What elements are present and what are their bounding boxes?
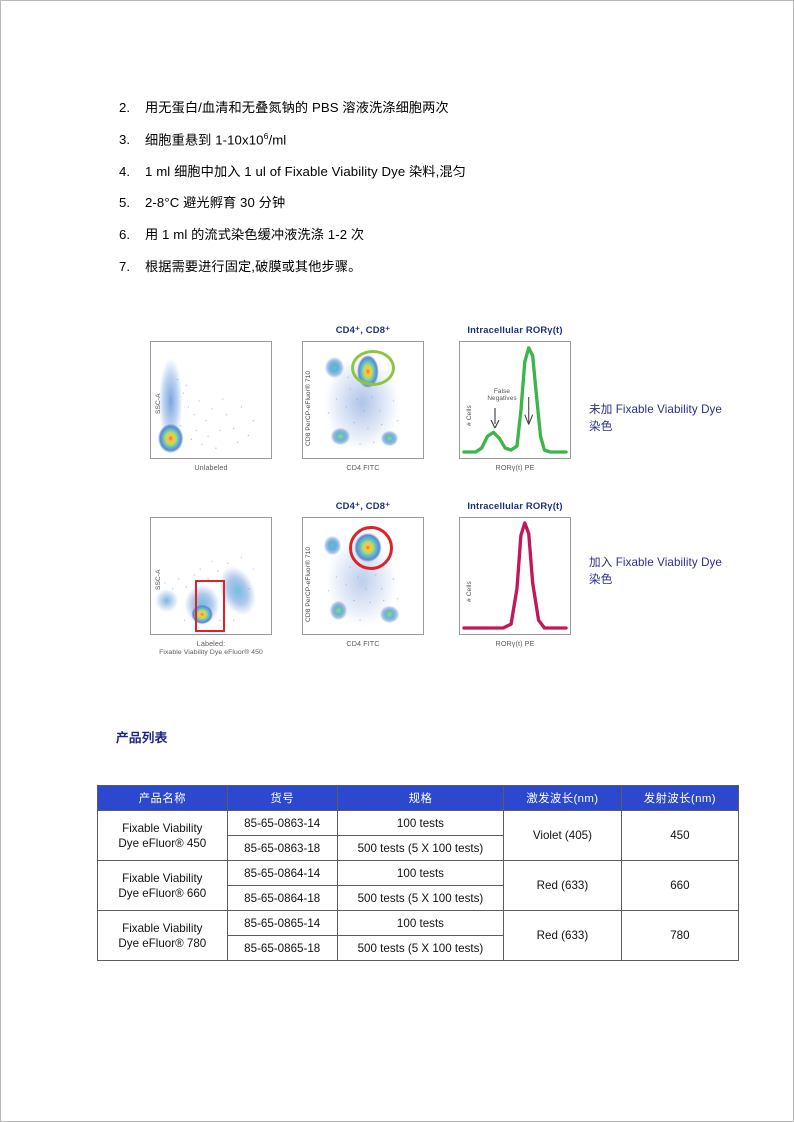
cell-excitation: Red (633) <box>504 861 622 911</box>
scatter-plot: SSC-A <box>150 341 272 459</box>
cell-emission: 780 <box>621 911 738 961</box>
panel-cd4-cd8-stained: CD4⁺, CD8⁺ CD8 PerCP-eFluor® 710 <box>293 499 433 667</box>
list-item: 7. 根据需要进行固定,破膜或其他步骤。 <box>119 258 679 275</box>
cell-excitation: Red (633) <box>504 911 622 961</box>
procedure-steps-list: 2. 用无蛋白/血清和无叠氮钠的 PBS 溶液洗涤细胞两次 3. 细胞重悬到 1… <box>119 99 679 289</box>
x-axis-label-line1: RORγ(t) PE <box>496 639 535 648</box>
column-header-emission: 发射波长(nm) <box>621 786 738 811</box>
histogram-plot: # Cells False Negatives <box>459 341 571 459</box>
gate-circle-red <box>349 526 393 570</box>
panel-title: CD4⁺, CD8⁺ <box>293 499 433 517</box>
scatter-plot: SSC-A <box>150 517 272 635</box>
step-text: 用 1 ml 的流式染色缓冲液洗涤 1-2 次 <box>145 226 679 243</box>
x-axis-label: RORγ(t) PE <box>445 463 585 472</box>
page-title: 产品列表 <box>116 727 168 746</box>
cell-spec: 100 tests <box>337 811 503 836</box>
cell-product-name: Fixable Viability Dye eFluor® 450 <box>98 811 228 861</box>
step-number: 5. <box>119 194 145 211</box>
product-name-line1: Fixable Viability <box>122 872 202 885</box>
cell-catalog-no: 85-65-0863-14 <box>227 811 337 836</box>
annotation-line1: 未加 Fixable Viability Dye <box>589 403 722 416</box>
panel-cd4-cd8-unstained: CD4⁺, CD8⁺ CD8 PerCP-eFluor® 710 <box>293 323 433 491</box>
product-name-line1: Fixable Viability <box>122 922 202 935</box>
cell-catalog-no: 85-65-0863-18 <box>227 836 337 861</box>
histogram-plot: # Cells <box>459 517 571 635</box>
cell-spec: 500 tests (5 X 100 tests) <box>337 886 503 911</box>
table-row: Fixable Viability Dye eFluor® 780 85-65-… <box>98 911 739 936</box>
cell-excitation: Violet (405) <box>504 811 622 861</box>
panel-labeled-ssc: SSC-A <box>141 499 281 667</box>
cell-emission: 450 <box>621 811 738 861</box>
cell-spec: 100 tests <box>337 861 503 886</box>
step-number: 7. <box>119 258 145 275</box>
gate-circle-green <box>351 350 395 386</box>
x-axis-label: Labeled: Fixable Viability Dye eFluor® 4… <box>141 639 281 657</box>
cell-emission: 660 <box>621 861 738 911</box>
step-text: 用无蛋白/血清和无叠氮钠的 PBS 溶液洗涤细胞两次 <box>145 99 679 116</box>
product-name-line2: Dye eFluor® 660 <box>118 887 206 900</box>
panel-title: Intracellular RORγ(t) <box>445 499 585 517</box>
panel-title <box>141 323 281 341</box>
x-axis-label-line1: CD4 FITC <box>346 639 379 648</box>
cell-spec: 500 tests (5 X 100 tests) <box>337 936 503 961</box>
product-table: 产品名称 货号 规格 激发波长(nm) 发射波长(nm) Fixable Via… <box>97 785 739 961</box>
step-number: 4. <box>119 163 145 180</box>
cell-product-name: Fixable Viability Dye eFluor® 780 <box>98 911 228 961</box>
x-axis-label-line1: Labeled: <box>197 639 225 648</box>
panel-rorgt-unstained: Intracellular RORγ(t) # Cells False Nega… <box>445 323 585 491</box>
panel-title: CD4⁺, CD8⁺ <box>293 323 433 341</box>
x-axis-label: CD4 FITC <box>293 639 433 648</box>
x-axis-label: Unlabeled <box>141 463 281 472</box>
x-axis-label-line2: Fixable Viability Dye eFluor® 450 <box>141 648 281 657</box>
table-header-row: 产品名称 货号 规格 激发波长(nm) 发射波长(nm) <box>98 786 739 811</box>
scatter-plot: CD8 PerCP-eFluor® 710 <box>302 341 424 459</box>
annotation-unstained: 未加 Fixable Viability Dye 染色 <box>589 401 779 435</box>
cell-catalog-no: 85-65-0865-18 <box>227 936 337 961</box>
column-header-catalog-no: 货号 <box>227 786 337 811</box>
x-axis-label: CD4 FITC <box>293 463 433 472</box>
false-negatives-annotation: False Negatives <box>480 388 524 403</box>
annotation-stained: 加入 Fixable Viability Dye 染色 <box>589 554 779 588</box>
x-axis-label: RORγ(t) PE <box>445 639 585 648</box>
cell-spec: 100 tests <box>337 911 503 936</box>
document-page: 2. 用无蛋白/血清和无叠氮钠的 PBS 溶液洗涤细胞两次 3. 细胞重悬到 1… <box>0 0 794 1122</box>
annotation-line1: False <box>494 388 510 395</box>
cell-spec: 500 tests (5 X 100 tests) <box>337 836 503 861</box>
step-number: 2. <box>119 99 145 116</box>
column-header-spec: 规格 <box>337 786 503 811</box>
step-text: 细胞重悬到 1-10x106/ml <box>145 131 679 149</box>
panel-title: Intracellular RORγ(t) <box>445 323 585 341</box>
step-text-main: 细胞重悬到 1-10x10 <box>145 132 264 147</box>
list-item: 2. 用无蛋白/血清和无叠氮钠的 PBS 溶液洗涤细胞两次 <box>119 99 679 116</box>
panel-title <box>141 499 281 517</box>
annotation-line1: 加入 Fixable Viability Dye <box>589 556 722 569</box>
cell-catalog-no: 85-65-0865-14 <box>227 911 337 936</box>
list-item: 5. 2-8°C 避光孵育 30 分钟 <box>119 194 679 211</box>
column-header-excitation: 激发波长(nm) <box>504 786 622 811</box>
x-axis-label-line1: RORγ(t) PE <box>496 463 535 472</box>
x-axis-label-line1: CD4 FITC <box>346 463 379 472</box>
annotation-line2: 染色 <box>589 420 612 433</box>
product-name-line1: Fixable Viability <box>122 822 202 835</box>
step-number: 3. <box>119 131 145 148</box>
panel-rorgt-stained: Intracellular RORγ(t) # Cells RORγ(t) PE <box>445 499 585 667</box>
cell-product-name: Fixable Viability Dye eFluor® 660 <box>98 861 228 911</box>
cell-catalog-no: 85-65-0864-14 <box>227 861 337 886</box>
histogram-trace-icon <box>460 518 570 634</box>
column-header-product-name: 产品名称 <box>98 786 228 811</box>
down-arrow-icon <box>488 408 502 430</box>
annotation-line2: 染色 <box>589 573 612 586</box>
table-row: Fixable Viability Dye eFluor® 660 85-65-… <box>98 861 739 886</box>
list-item: 3. 细胞重悬到 1-10x106/ml <box>119 131 679 149</box>
step-text: 2-8°C 避光孵育 30 分钟 <box>145 194 679 211</box>
cell-catalog-no: 85-65-0864-18 <box>227 886 337 911</box>
step-text: 根据需要进行固定,破膜或其他步骤。 <box>145 258 679 275</box>
step-text: 1 ml 细胞中加入 1 ul of Fixable Viability Dye… <box>145 163 679 180</box>
step-number: 6. <box>119 226 145 243</box>
flow-cytometry-figure: SSC-A <box>133 323 773 683</box>
product-name-line2: Dye eFluor® 450 <box>118 837 206 850</box>
density-scatter-icon <box>151 342 271 458</box>
step-text-suffix: /ml <box>268 132 286 147</box>
scatter-plot: CD8 PerCP-eFluor® 710 <box>302 517 424 635</box>
x-axis-label-line1: Unlabeled <box>194 463 227 472</box>
panel-unlabeled-ssc: SSC-A <box>141 323 281 491</box>
product-name-line2: Dye eFluor® 780 <box>118 937 206 950</box>
list-item: 6. 用 1 ml 的流式染色缓冲液洗涤 1-2 次 <box>119 226 679 243</box>
table-row: Fixable Viability Dye eFluor® 450 85-65-… <box>98 811 739 836</box>
list-item: 4. 1 ml 细胞中加入 1 ul of Fixable Viability … <box>119 163 679 180</box>
annotation-line2: Negatives <box>487 395 516 402</box>
gate-rect-red <box>195 580 225 632</box>
